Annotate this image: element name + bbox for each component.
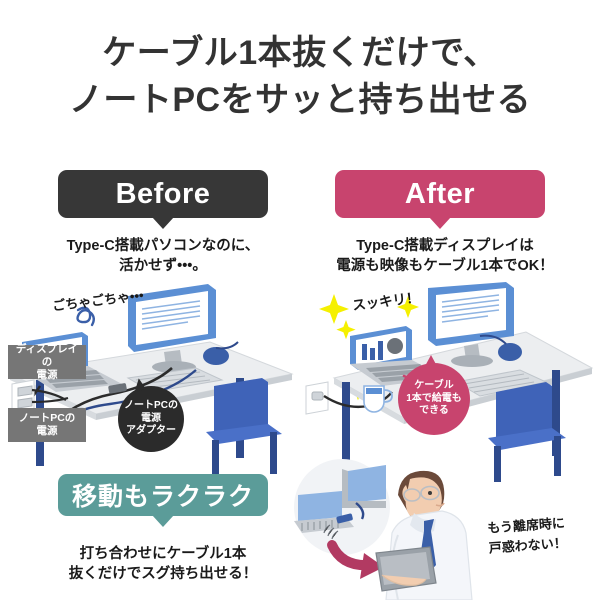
no-worry-note-line-1: もう離席時に	[487, 515, 565, 535]
before-banner-tail	[152, 217, 174, 229]
laptop-chart-bar-1	[362, 344, 367, 360]
mug-rim	[366, 388, 382, 394]
laptop-chart-bar-2	[370, 348, 375, 360]
sparkle-icon-1	[319, 294, 349, 324]
before-desk-illustration	[0, 282, 300, 482]
after-banner-label: After	[405, 178, 475, 211]
laptop-chart-pie	[387, 338, 403, 354]
after-banner-tail	[429, 217, 451, 229]
person-eye	[428, 491, 432, 495]
move-banner: 移動もラクラク	[58, 474, 268, 516]
move-caption: 打ち合わせにケーブル1本 抜くだけでスグ持ち出せる！	[38, 544, 288, 584]
label-display-power-text: ディスプレイの電源	[12, 343, 82, 382]
mouse	[203, 347, 229, 365]
before-caption-line-2: 活かせず•••。	[119, 258, 207, 274]
inset-monitor-stand	[342, 501, 386, 508]
before-banner: Before	[58, 170, 268, 218]
chair-leg-back	[270, 432, 277, 474]
no-worry-note: もう離席時に 戸惑わない！	[487, 511, 595, 558]
page-title: ケーブル1本抜くだけで、 ノートPCをサッと持ち出せる	[0, 30, 600, 124]
move-caption-line-2: 抜くだけでスグ持ち出せる！	[69, 566, 258, 582]
laptop-chart-bar-3	[378, 341, 383, 360]
headline-line-2: ノートPCをサッと持ち出せる	[0, 76, 600, 124]
after-caption: Type-C搭載ディスプレイは 電源も映像もケーブル1本でOK！	[320, 236, 570, 276]
after-caption-line-1: Type-C搭載ディスプレイは	[356, 238, 534, 254]
inset-monitor-screen	[348, 465, 386, 503]
after-caption-line-2: 電源も映像もケーブル1本でOK！	[336, 258, 553, 274]
monitor-base	[451, 355, 493, 367]
badge-power-adapter: ノートPCの電源アダプター	[118, 386, 184, 452]
infographic-page: ケーブル1本抜くだけで、 ノートPCをサッと持ち出せる Before Type-…	[0, 0, 600, 600]
move-caption-line-1: 打ち合わせにケーブル1本	[80, 546, 247, 562]
before-caption: Type-C搭載パソコンなのに、 活かせず•••。	[43, 236, 283, 276]
label-display-power: ディスプレイの電源	[8, 345, 86, 379]
badge-single-cable: ケーブル1本で給電もできる	[398, 363, 470, 435]
outlet-plug	[312, 392, 323, 400]
inset-laptop-screen	[298, 491, 342, 521]
badge-single-cable-text: ケーブル1本で給電もできる	[404, 380, 464, 418]
label-notepc-power-text: ノートPCの電源	[19, 412, 76, 438]
mouse	[498, 343, 522, 361]
badge-power-adapter-text: ノートPCの電源アダプター	[122, 400, 180, 438]
move-banner-tail	[152, 515, 174, 527]
label-notepc-power: ノートPCの電源	[8, 408, 86, 442]
after-banner: After	[335, 170, 545, 218]
headline-line-1: ケーブル1本抜くだけで、	[0, 30, 600, 76]
before-banner-label: Before	[116, 178, 211, 211]
before-caption-line-1: Type-C搭載パソコンなのに、	[67, 238, 260, 254]
move-banner-label: 移動もラクラク	[72, 477, 254, 513]
no-worry-note-line-2: 戸惑わない！	[488, 535, 567, 555]
